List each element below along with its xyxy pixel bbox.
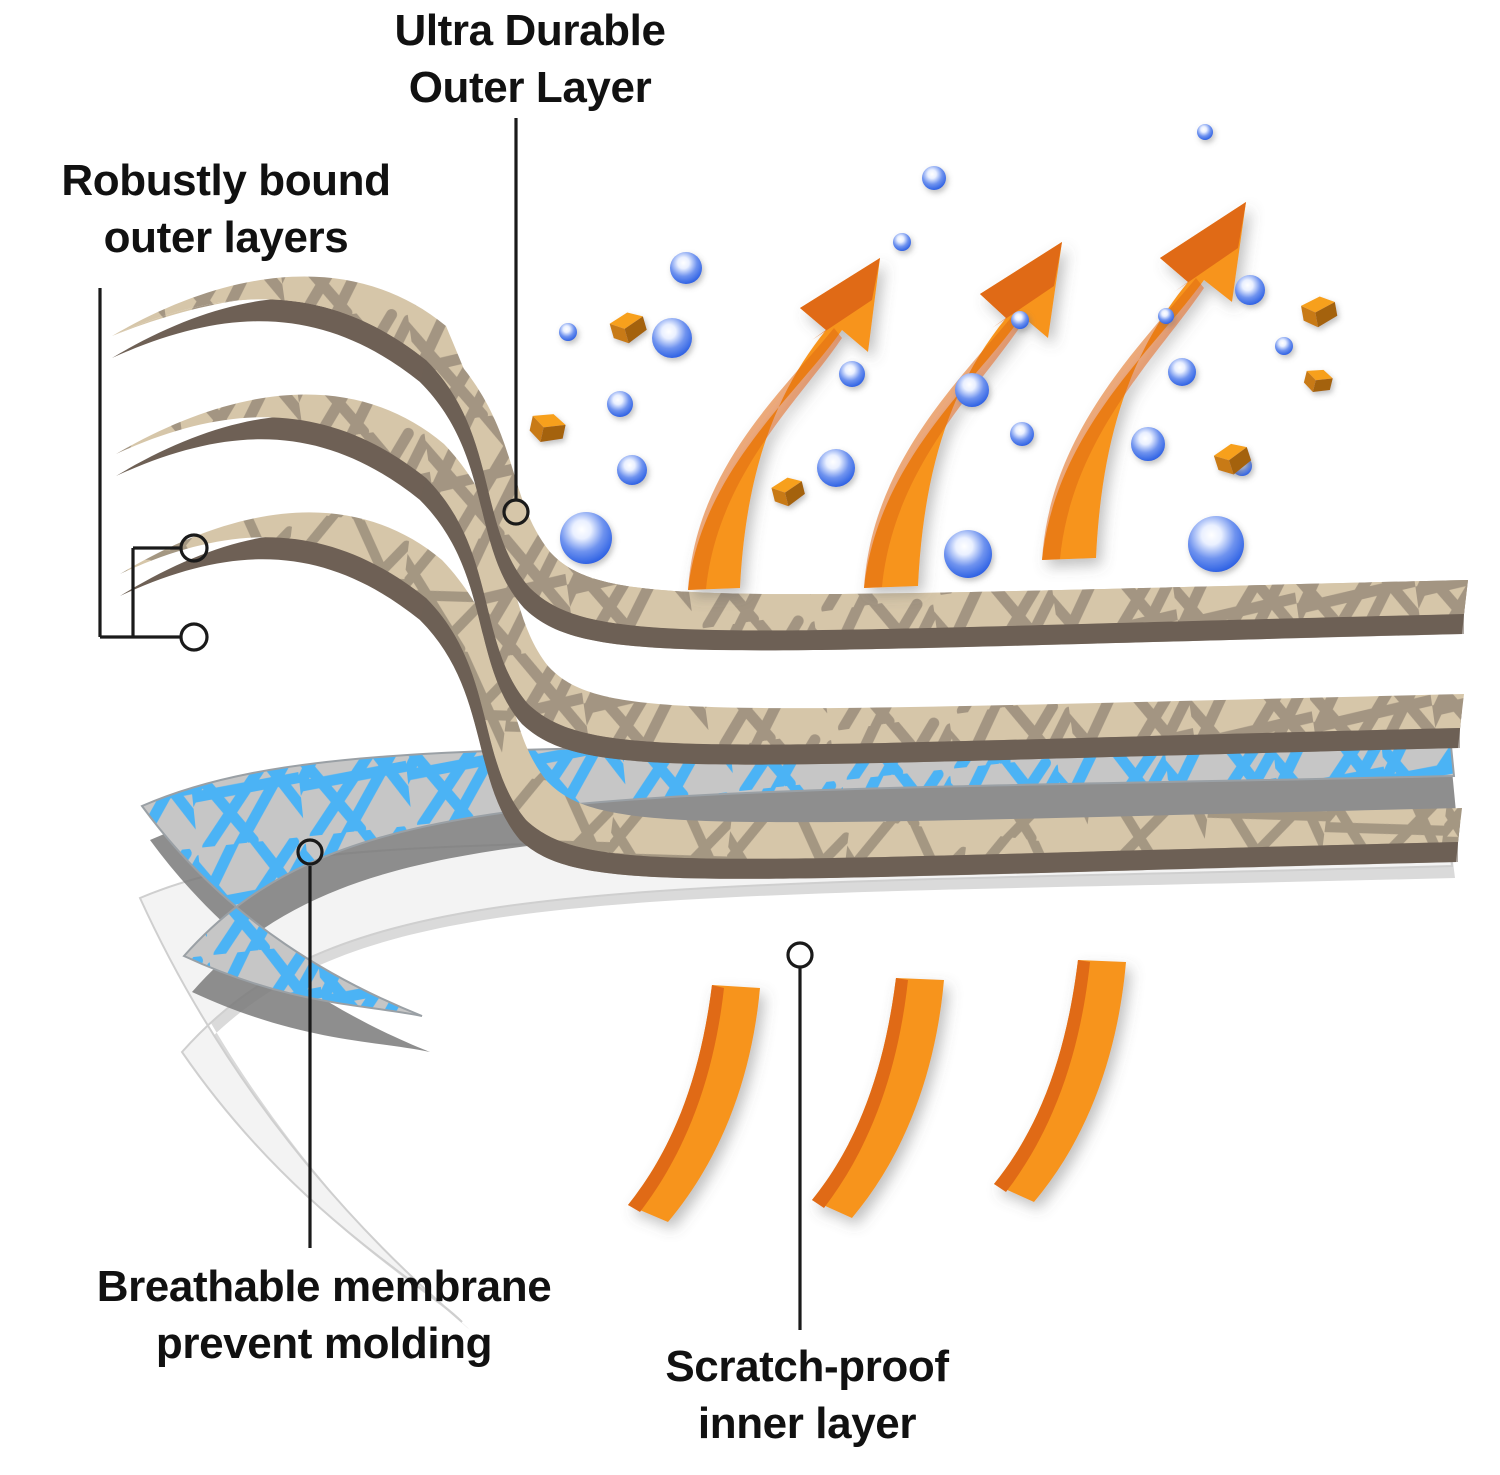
downward-arrow-1 xyxy=(628,985,760,1222)
dirt-cubes xyxy=(528,294,1339,509)
moisture-spheres xyxy=(559,124,1293,578)
layer-outer-1 xyxy=(112,276,1468,650)
layer-scratch-proof-inner xyxy=(140,830,1455,1330)
leader-robustly-bound-outer-layers xyxy=(100,288,207,650)
downward-arrow-3 xyxy=(994,960,1126,1202)
downward-airflow-arrows xyxy=(628,960,1126,1222)
label-robustly-bound-outer-layers: Robustly bound outer layers xyxy=(0,152,452,266)
label-breathable-membrane-prevent-molding: Breathable membrane prevent molding xyxy=(4,1258,644,1372)
label-ultra-durable-outer-layer: Ultra Durable Outer Layer xyxy=(330,2,730,116)
label-scratch-proof-inner-layer: Scratch-proof inner layer xyxy=(592,1338,1022,1452)
downward-arrow-2 xyxy=(812,978,944,1218)
leader-scratch-proof-inner-layer xyxy=(788,943,812,1330)
diagram-canvas: Ultra Durable Outer Layer Robustly bound… xyxy=(0,0,1500,1475)
layer-outer-2 xyxy=(116,394,1464,764)
upward-arrow-3 xyxy=(1042,202,1246,560)
upward-arrow-1 xyxy=(688,258,880,590)
